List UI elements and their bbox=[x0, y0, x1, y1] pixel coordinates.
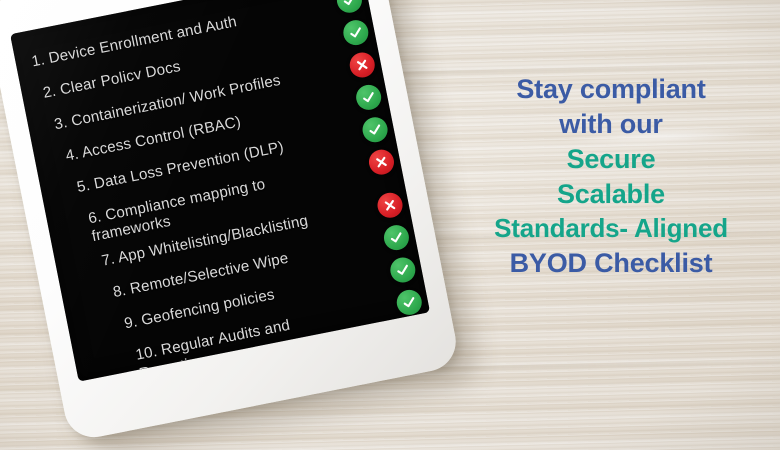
check-circle-icon[interactable] bbox=[382, 223, 411, 252]
headline-line: with our bbox=[455, 107, 767, 142]
tablet-screen[interactable]: 1. Device Enrollment and Auth2. Clear Po… bbox=[10, 0, 430, 382]
x-circle-icon[interactable] bbox=[367, 147, 396, 176]
check-circle-icon[interactable] bbox=[395, 288, 424, 317]
check-circle-icon[interactable] bbox=[360, 115, 389, 144]
x-circle-icon[interactable] bbox=[375, 191, 404, 220]
headline-line: Stay compliant bbox=[455, 72, 767, 107]
headline-line: Secure bbox=[455, 142, 767, 177]
check-circle-icon[interactable] bbox=[354, 83, 383, 112]
headline-line: Standards- Aligned bbox=[455, 212, 767, 246]
tablet-device: 1. Device Enrollment and Auth2. Clear Po… bbox=[0, 0, 461, 442]
headline-line: BYOD Checklist bbox=[455, 246, 767, 281]
checklist: 1. Device Enrollment and Auth2. Clear Po… bbox=[29, 0, 429, 382]
headline-line: Scalable bbox=[455, 177, 767, 212]
check-circle-icon[interactable] bbox=[335, 0, 364, 15]
x-circle-icon[interactable] bbox=[348, 50, 377, 79]
headline-panel: Stay compliantwith ourSecureScalableStan… bbox=[455, 72, 767, 281]
check-circle-icon[interactable] bbox=[341, 18, 370, 47]
check-circle-icon[interactable] bbox=[388, 256, 417, 285]
